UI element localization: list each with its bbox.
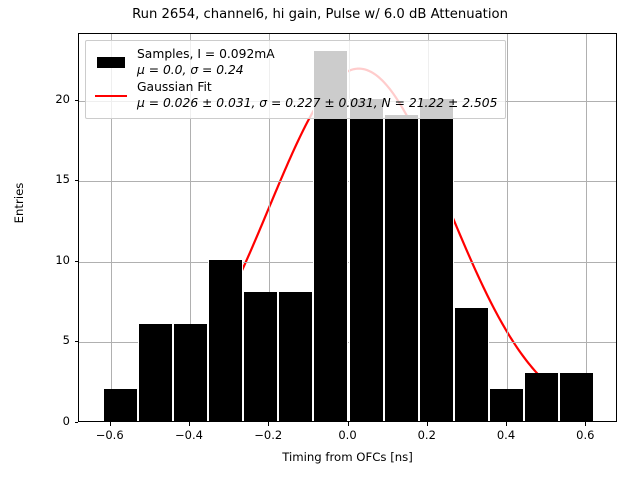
- x-tick-mark: [189, 422, 190, 426]
- histogram-bar: [489, 389, 524, 421]
- x-tick-mark: [585, 422, 586, 426]
- histogram-bar: [278, 292, 313, 421]
- x-axis-label: Timing from OFCs [ns]: [78, 450, 617, 464]
- y-tick-label: 10: [40, 253, 70, 267]
- fit-line-swatch-icon: [92, 95, 130, 97]
- x-tick-label: −0.6: [80, 428, 140, 442]
- histogram-bar: [173, 324, 208, 421]
- histogram-bar: [384, 115, 419, 421]
- legend-entry-fit: Gaussian Fit μ = 0.026 ± 0.031, σ = 0.22…: [92, 80, 497, 112]
- x-tick-mark: [268, 422, 269, 426]
- histogram-bar: [559, 373, 594, 421]
- histogram-swatch-icon: [92, 57, 130, 68]
- figure-canvas: Run 2654, channel6, hi gain, Pulse w/ 6.…: [0, 0, 640, 480]
- histogram-bar: [138, 324, 173, 421]
- histogram-bar: [454, 308, 489, 421]
- x-tick-mark: [427, 422, 428, 426]
- y-axis-label: Entries: [12, 153, 26, 253]
- y-tick-mark: [75, 341, 79, 342]
- histogram-bar: [524, 373, 559, 421]
- legend-fit-line1: Gaussian Fit: [137, 80, 212, 94]
- histogram-bar: [208, 260, 243, 421]
- x-tick-mark: [110, 422, 111, 426]
- y-tick-label: 0: [40, 414, 70, 428]
- y-tick-mark: [75, 100, 79, 101]
- x-tick-label: −0.4: [159, 428, 219, 442]
- histogram-bar: [349, 99, 384, 421]
- page-title: Run 2654, channel6, hi gain, Pulse w/ 6.…: [0, 7, 640, 22]
- legend-fit-line2: μ = 0.026 ± 0.031, σ = 0.227 ± 0.031, N …: [137, 96, 497, 110]
- gridline-vertical: [507, 34, 508, 421]
- histogram-bar: [103, 389, 138, 421]
- x-tick-label: −0.2: [238, 428, 298, 442]
- x-tick-mark: [506, 422, 507, 426]
- x-tick-label: 0.2: [397, 428, 457, 442]
- y-tick-label: 5: [40, 333, 70, 347]
- x-tick-mark: [348, 422, 349, 426]
- legend: Samples, I = 0.092mA μ = 0.0, σ = 0.24 G…: [85, 40, 506, 119]
- legend-entry-samples: Samples, I = 0.092mA μ = 0.0, σ = 0.24: [92, 47, 497, 79]
- y-tick-label: 15: [40, 172, 70, 186]
- x-tick-label: 0.6: [555, 428, 615, 442]
- y-tick-label: 20: [40, 92, 70, 106]
- histogram-bar: [243, 292, 278, 421]
- x-tick-label: 0.4: [476, 428, 536, 442]
- gridline-vertical: [586, 34, 587, 421]
- x-tick-label: 0.0: [318, 428, 378, 442]
- legend-samples-line2: μ = 0.0, σ = 0.24: [137, 63, 244, 77]
- y-tick-mark: [75, 422, 79, 423]
- y-tick-mark: [75, 180, 79, 181]
- histogram-bar: [419, 99, 454, 421]
- y-tick-mark: [75, 261, 79, 262]
- legend-samples-line1: Samples, I = 0.092mA: [137, 47, 275, 61]
